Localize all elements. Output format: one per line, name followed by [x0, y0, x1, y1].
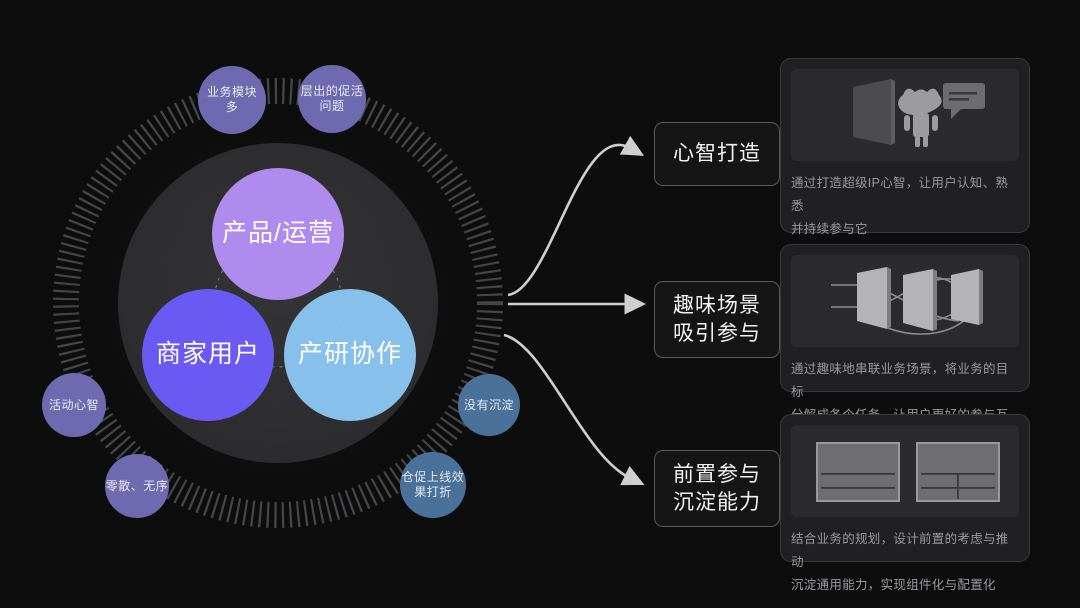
solutions-column: 心智打造 趣味场景 吸引参与 前置参与 沉淀能力 — [640, 0, 1080, 608]
solution-tag-mind-building[interactable]: 心智打造 — [654, 122, 780, 186]
linked-panels-icon — [791, 255, 1019, 347]
connector-top — [508, 145, 630, 295]
connector-arrows — [490, 0, 660, 608]
connector-bottom — [504, 335, 630, 478]
solution-card-mind-building[interactable]: 通过打造超级IP心智，让用户认知、熟悉 并持续参与它 — [780, 58, 1030, 233]
solution-card-fun-scenario-engagement[interactable]: 通过趣味地串联业务场景，将业务的目标 分解成各个任务，让用户更好的参与互动 — [780, 244, 1030, 392]
solution-tag-pre-participation-accumulation[interactable]: 前置参与 沉淀能力 — [654, 450, 780, 527]
wireframe-blocks-icon — [791, 425, 1019, 517]
solution-tag-fun-scenario-engagement[interactable]: 趣味场景 吸引参与 — [654, 281, 780, 358]
pain-bubble-rushed-launch-discount[interactable] — [400, 452, 466, 518]
solution-description-pre-participation-accumulation: 结合业务的规划，设计前置的考虑与推动 沉淀通用能力，实现组件化与配置化 — [791, 528, 1019, 597]
solution-card-pre-participation-accumulation[interactable]: 结合业务的规划，设计前置的考虑与推动 沉淀通用能力，实现组件化与配置化 — [780, 414, 1030, 562]
pain-bubble-endless-promo-problems[interactable] — [298, 65, 366, 133]
pain-bubble-scattered-disordered[interactable] — [105, 454, 169, 518]
core-circle-merchant-users[interactable] — [142, 289, 274, 421]
pain-bubble-activity-mindshare[interactable] — [42, 373, 106, 437]
speech-bubble-shape — [943, 83, 985, 119]
core-circle-rnd-collaboration[interactable] — [284, 289, 416, 421]
infographic-canvas: 产品/运营 商家用户 产研协作 业务模块 多 层出的促活 问题 活动心智 零散、… — [0, 0, 1080, 608]
solution-description-mind-building: 通过打造超级IP心智，让用户认知、熟悉 并持续参与它 — [791, 172, 1019, 241]
mascot-speech-bubble-icon — [791, 69, 1019, 161]
core-circle-product-operations[interactable] — [212, 168, 344, 300]
pain-bubble-many-business-modules[interactable] — [198, 66, 266, 134]
